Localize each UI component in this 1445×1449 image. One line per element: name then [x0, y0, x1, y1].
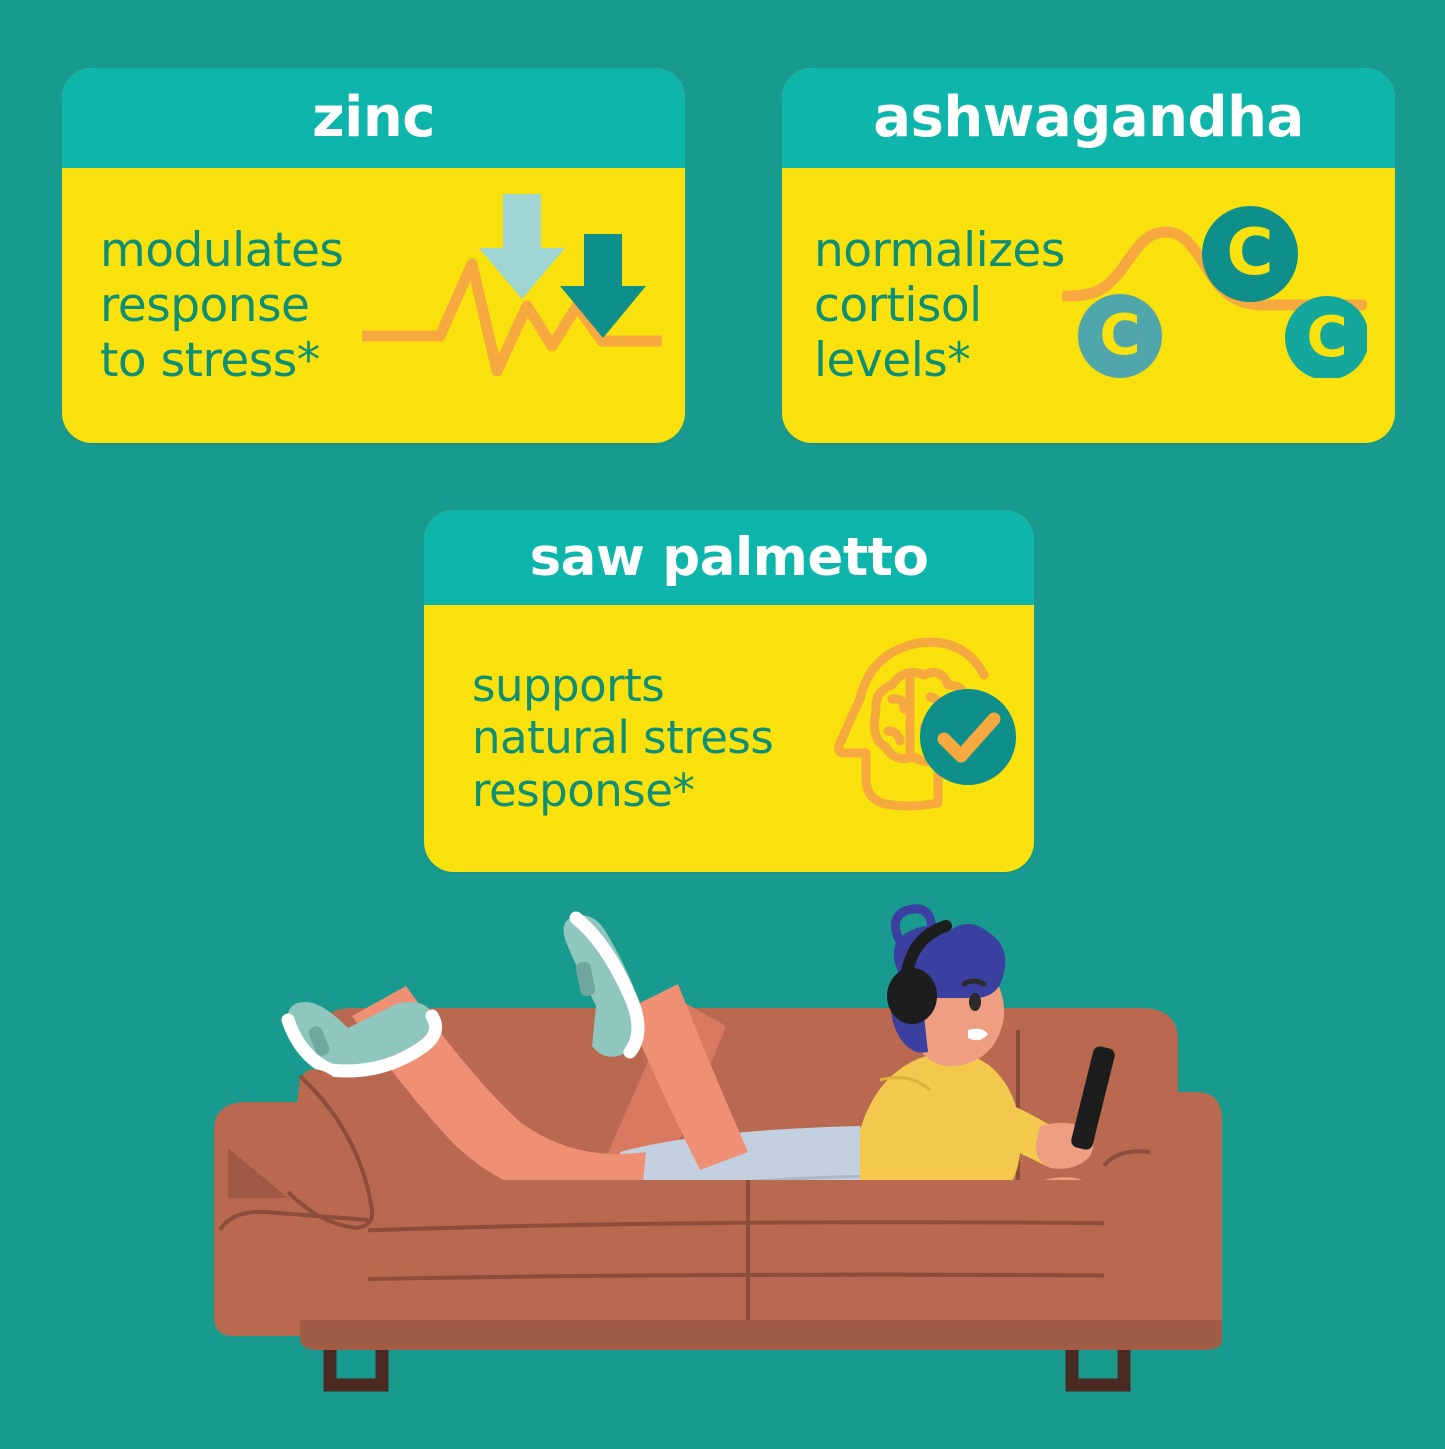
cortisol-marker-dark: C	[1202, 206, 1298, 302]
card-text-zinc: modulates response to stress*	[100, 223, 343, 388]
brain-head-check-icon	[806, 627, 1016, 831]
benefit-card-zinc: zinc modulates response to stress*	[62, 68, 685, 443]
svg-text:C: C	[1306, 305, 1347, 370]
infographic-canvas: zinc modulates response to stress*	[0, 0, 1445, 1445]
svg-text:C: C	[1227, 216, 1274, 290]
person-head	[887, 909, 1005, 1066]
benefit-card-ashwagandha: ashwagandha normalizes cortisol levels* …	[782, 68, 1395, 443]
illustration-woman-on-couch	[0, 880, 1445, 1445]
card-text-ashwagandha: normalizes cortisol levels*	[814, 223, 1065, 388]
card-title-ashwagandha: ashwagandha	[873, 90, 1304, 146]
couch-seat	[300, 1180, 1196, 1342]
cortisol-marker-muted: C	[1078, 294, 1162, 378]
card-header-ashwagandha: ashwagandha	[782, 68, 1395, 168]
svg-text:C: C	[1099, 303, 1140, 368]
card-body-zinc: modulates response to stress*	[62, 168, 685, 443]
card-title-saw-palmetto: saw palmetto	[530, 531, 929, 584]
card-header-zinc: zinc	[62, 68, 685, 168]
couch-left-armrest	[214, 1069, 372, 1336]
card-header-saw-palmetto: saw palmetto	[424, 510, 1034, 605]
couch-right-armrest	[1104, 1092, 1222, 1336]
cortisol-curve-c-circles-icon: C C C	[1062, 188, 1367, 382]
check-badge	[920, 689, 1016, 785]
benefit-card-saw-palmetto: saw palmetto supports natural stress res…	[424, 510, 1034, 872]
couch-base	[300, 1320, 1222, 1350]
card-body-saw-palmetto: supports natural stress response*	[424, 605, 1034, 872]
card-text-saw-palmetto: supports natural stress response*	[472, 660, 773, 818]
card-title-zinc: zinc	[312, 90, 435, 146]
stress-waveform-down-arrows-icon	[362, 186, 662, 380]
card-body-ashwagandha: normalizes cortisol levels* C C	[782, 168, 1395, 443]
